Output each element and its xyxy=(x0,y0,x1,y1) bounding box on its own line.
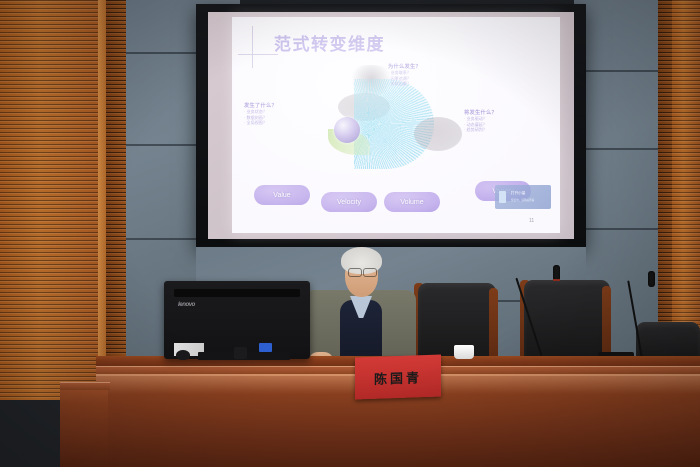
wall-wood-left xyxy=(0,0,98,400)
wall-seam-r2 xyxy=(574,148,658,150)
slide-art-cloud-right xyxy=(414,117,462,151)
chair-frame-left-right xyxy=(489,288,498,361)
speaker-glasses xyxy=(348,268,362,277)
projection-screen-surface: 范式转变维度 为什么发生？ · 业务联系？ · 因果追溯？ · 关联因素？ 发 xyxy=(208,12,574,239)
projection-screen-frame: 范式转变维度 为什么发生？ · 业务联系？ · 因果追溯？ · 关联因素？ 发 xyxy=(196,4,586,247)
wall-seam-r1 xyxy=(574,70,658,72)
screenshot-root: 范式转变维度 为什么发生？ · 业务联系？ · 因果追溯？ · 关联因素？ 发 xyxy=(0,0,700,467)
vga-cable-connector xyxy=(259,343,272,352)
presentation-slide: 范式转变维度 为什么发生？ · 业务联系？ · 因果追溯？ · 关联因素？ 发 xyxy=(232,17,560,233)
title-rule-horizontal xyxy=(238,54,278,55)
speaker-glasses-right xyxy=(363,268,377,277)
slide-overlay-widget: 打开小量 预览中，请稍后查看 xyxy=(495,185,551,209)
cluster-bullet: · 全局视图？ xyxy=(244,120,277,126)
mic-head-right-2 xyxy=(648,271,655,287)
chair-frame-mid-right xyxy=(602,286,611,362)
slide-page-number: 11 xyxy=(529,218,534,224)
cluster-bullet: · 趋势研判？ xyxy=(464,127,497,133)
slide-title: 范式转变维度 xyxy=(274,30,385,55)
table-edge-left-return xyxy=(60,382,110,390)
cluster-bullet: · 关联因素？ xyxy=(388,81,421,87)
cluster-heading: 将发生什么？ xyxy=(464,109,497,116)
overlay-widget-line2: 预览中，请稍后查看 xyxy=(511,198,534,202)
overlay-widget-icon xyxy=(499,191,506,203)
mouse[interactable] xyxy=(176,350,190,360)
table-front-panel-left-return xyxy=(60,388,108,467)
slide-pill-velocity: Velocity xyxy=(321,192,377,212)
wall-trim-left xyxy=(98,0,106,400)
overlay-widget-line1: 打开小量 xyxy=(511,191,525,196)
paper-cup[interactable] xyxy=(454,345,474,359)
monitor-vent xyxy=(174,289,300,297)
slide-pill-value: Value xyxy=(254,185,310,205)
slide-cluster-what-will-happen: 将发生什么？ · 业务驱动？ · 动态蔓延？ · 趋势研判？ xyxy=(464,109,497,133)
slide-cluster-what-happened: 发生了什么？ · 业务状态？ · 数据刻画？ · 全局视图？ xyxy=(244,102,277,126)
cluster-heading: 为什么发生？ xyxy=(388,63,421,70)
slide-art-globe xyxy=(334,117,360,143)
title-rule-vertical xyxy=(252,26,253,68)
lenovo-logo: lenovo xyxy=(178,302,195,308)
wall-wood-left-dark xyxy=(106,0,126,400)
mic-ring-right-1 xyxy=(553,279,560,281)
cluster-heading: 发生了什么？ xyxy=(244,102,277,109)
chair-middle[interactable] xyxy=(524,280,610,362)
nameplate-text: 陈国青 xyxy=(374,367,422,388)
nameplate: 陈国青 xyxy=(355,354,441,399)
slide-pill-volume: Volume xyxy=(384,192,440,212)
speaker-puck xyxy=(234,347,247,359)
slide-cluster-why-happened: 为什么发生？ · 业务联系？ · 因果追溯？ · 关联因素？ xyxy=(388,63,421,87)
wall-seam-r3 xyxy=(574,228,658,230)
